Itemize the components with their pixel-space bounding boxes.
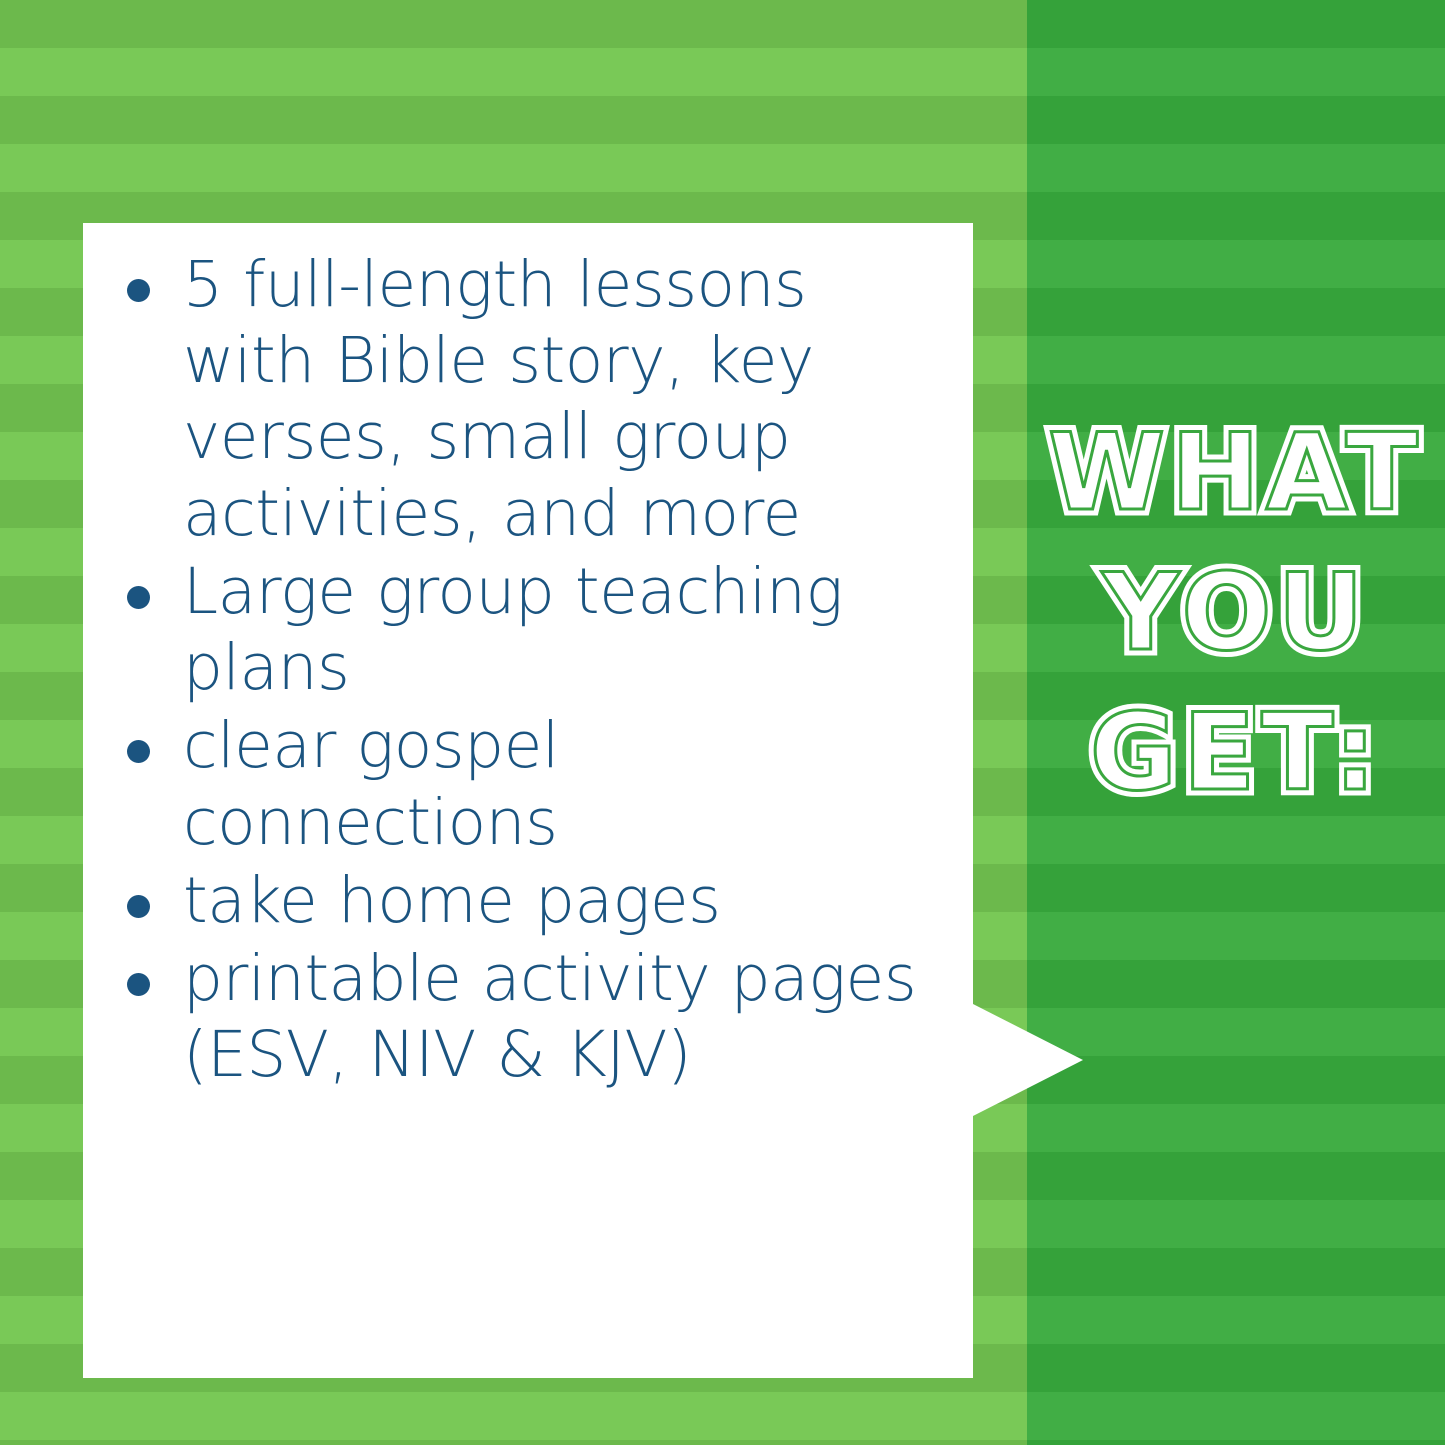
list-item-label: take home pages <box>183 864 720 937</box>
list-item: take home pages <box>183 863 951 939</box>
list-item: Large group teaching plans <box>183 554 951 706</box>
headline-line-1-label: WHAT <box>1048 411 1424 534</box>
bullet-dot-icon <box>127 586 150 609</box>
headline-line-1: WHAT WHAT <box>1027 420 1445 526</box>
list-item: printable activity pages (ESV, NIV & KJV… <box>183 941 951 1093</box>
speech-bubble-tail <box>973 1004 1083 1116</box>
bullet-dot-icon <box>127 895 150 918</box>
headline-line-3: GET: GET: <box>1027 700 1445 806</box>
list-item: 5 full-length lessons with Bible story, … <box>183 247 951 552</box>
benefits-list: 5 full-length lessons with Bible story, … <box>83 247 973 1095</box>
list-item-label: clear gospel connections <box>183 709 559 858</box>
list-item-label: Large group teaching plans <box>183 555 843 704</box>
list-item-label: 5 full-length lessons with Bible story, … <box>183 248 814 550</box>
headline-line-3-label: GET: <box>1090 691 1382 814</box>
bullet-dot-icon <box>127 279 150 302</box>
bullet-dot-icon <box>127 973 150 996</box>
headline-line-2-label: YOU <box>1102 551 1369 674</box>
list-item: clear gospel connections <box>183 708 951 860</box>
poster-canvas: 5 full-length lessons with Bible story, … <box>0 0 1445 1445</box>
headline-what-you-get: WHAT WHAT YOU YOU GET: GET: <box>1027 420 1445 840</box>
bullet-dot-icon <box>127 740 150 763</box>
list-item-label: printable activity pages (ESV, NIV & KJV… <box>183 942 916 1091</box>
headline-line-2: YOU YOU <box>1027 560 1445 666</box>
